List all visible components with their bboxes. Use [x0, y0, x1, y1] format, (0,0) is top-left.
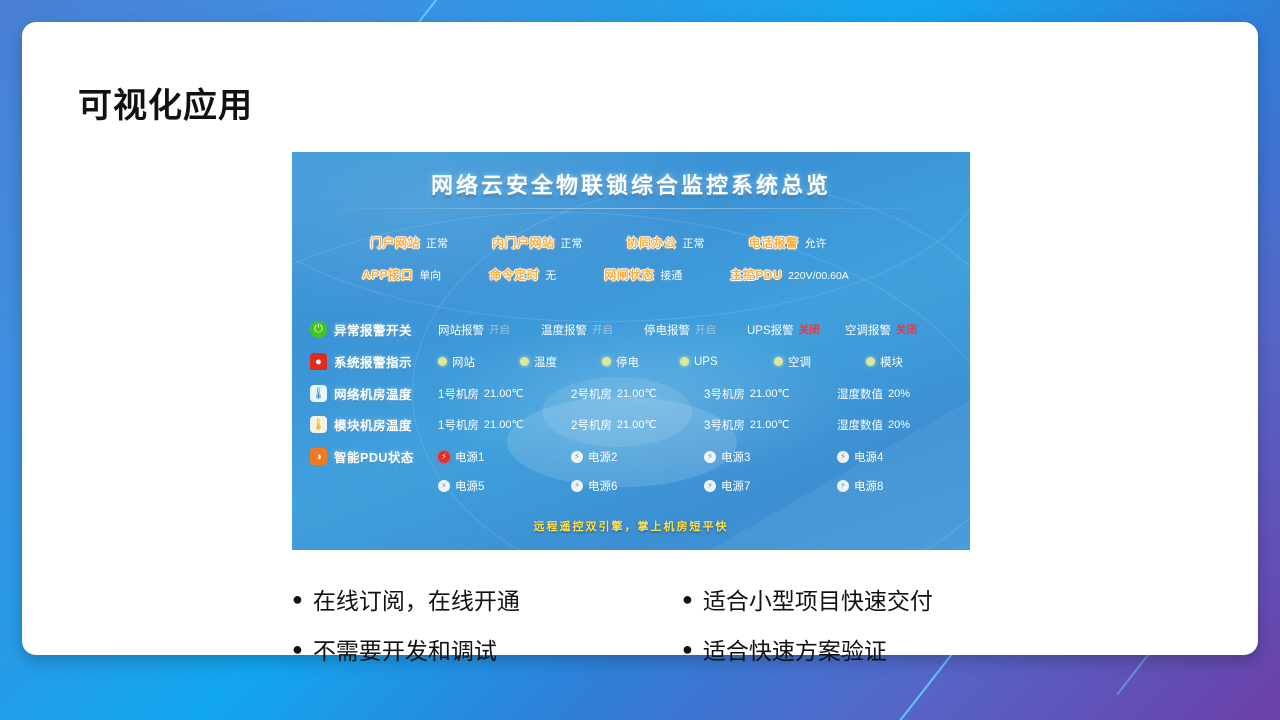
cell-key: 空调报警 — [845, 322, 891, 338]
cell-key: 1号机房 — [438, 386, 479, 402]
bullet-item: ● 在线订阅，在线开通 — [292, 582, 682, 616]
title-divider — [320, 208, 942, 209]
row-label: 异常报警开关 — [334, 320, 438, 339]
status-value: 正常 — [683, 235, 705, 251]
cell-key: 电源6 — [588, 478, 617, 494]
status-value: 正常 — [426, 235, 448, 251]
bullet-item: ● 适合小型项目快速交付 — [682, 582, 1032, 616]
status-value: 220V/00.60A — [788, 270, 849, 282]
bullet-dot-icon: ● — [682, 640, 693, 658]
status-command-timer: 命令定时 无 — [489, 266, 556, 283]
cell-key: 电源2 — [588, 449, 617, 465]
cell-value: 开启 — [592, 322, 613, 337]
cell-key: 模块 — [880, 354, 903, 370]
cell-key: 空调 — [788, 354, 811, 370]
cell-key: 1号机房 — [438, 417, 479, 433]
cell-key: 电源1 — [455, 449, 484, 465]
status-value: 允许 — [805, 235, 827, 251]
cell-key: 2号机房 — [571, 386, 612, 402]
bolt-icon: ⚡ — [438, 451, 450, 463]
status-value: 正常 — [561, 235, 583, 251]
bolt-icon: ⚡ — [571, 451, 583, 463]
cell-key: UPS报警 — [747, 322, 794, 338]
status-value: 单向 — [419, 267, 441, 283]
status-dot — [520, 357, 529, 366]
row-label: 模块机房温度 — [334, 415, 438, 434]
row-pdu-status: ◑ 智能PDU状态 ⚡ 电源1 ⚡ 电源2 ⚡ 电源3 ⚡ 电源4 — [310, 447, 960, 466]
status-label: APP接口 — [362, 266, 413, 283]
row-label: 系统报警指示 — [334, 352, 438, 371]
cell-key: 温度 — [534, 354, 557, 370]
cell-key: 温度报警 — [541, 322, 587, 338]
status-row-1: 门户网站 正常 内门户网站 正常 协同办公 正常 电话报警 允许 — [292, 234, 970, 251]
power-icon: ⏻ — [310, 321, 327, 338]
alarm-switch-poweroutage[interactable]: 停电报警 开启 — [644, 322, 747, 338]
bolt-icon: ⚡ — [704, 451, 716, 463]
alarm-switch-temperature[interactable]: 温度报警 开启 — [541, 322, 644, 338]
status-dot — [602, 357, 611, 366]
bullet-text: 适合快速方案验证 — [703, 632, 887, 666]
indicator-temperature: 温度 — [520, 354, 602, 370]
bullet-list: ● 在线订阅，在线开通 ● 适合小型项目快速交付 ● 不需要开发和调试 ● 适合… — [292, 582, 1032, 682]
bullet-item: ● 不需要开发和调试 — [292, 632, 682, 666]
monitoring-dashboard-panel: 网络云安全物联锁综合监控系统总览 门户网站 正常 内门户网站 正常 协同办公 正… — [292, 152, 970, 550]
bullet-dot-icon: ● — [292, 590, 303, 608]
cell-key: 3号机房 — [704, 386, 745, 402]
bullet-dot-icon: ● — [292, 640, 303, 658]
cell-key: 电源5 — [455, 478, 484, 494]
cell-value: 关闭 — [896, 322, 917, 337]
status-label: 内门户网站 — [492, 234, 555, 251]
cell-key: 电源7 — [721, 478, 750, 494]
status-dot — [774, 357, 783, 366]
thermometer-yellow-icon: 🌡 — [310, 416, 327, 433]
row-network-room-temperature: 🌡 网络机房温度 1号机房 21.00℃ 2号机房 21.00℃ 3号机房 21… — [310, 384, 960, 403]
cell-value: 开启 — [695, 322, 716, 337]
bullet-dot-icon: ● — [682, 590, 693, 608]
status-label: 网闸状态 — [604, 266, 654, 283]
row-pdu-status-second: ⚡ 电源5 ⚡ 电源6 ⚡ 电源7 ⚡ 电源8 — [310, 477, 960, 494]
module-temp-room-2: 2号机房 21.00℃ — [571, 417, 704, 433]
cell-key: 电源3 — [721, 449, 750, 465]
slide-card: 可视化应用 网络云安全物联锁综合监控系统总览 门户网站 正常 内门户网站 正常 … — [22, 22, 1258, 655]
bolt-icon: ⚡ — [837, 451, 849, 463]
row-alarm-switches: ⏻ 异常报警开关 网站报警 开启 温度报警 开启 停电报警 开启 UPS报警 关… — [310, 320, 960, 339]
bullet-item: ● 适合快速方案验证 — [682, 632, 1032, 666]
humidity-value: 湿度数值 20% — [837, 386, 910, 402]
status-value: 接通 — [660, 267, 682, 283]
status-value: 无 — [545, 267, 556, 283]
cell-value: 开启 — [489, 322, 510, 337]
status-label: 门户网站 — [370, 234, 420, 251]
cell-value: 21.00℃ — [750, 418, 790, 431]
cell-key: 2号机房 — [571, 417, 612, 433]
indicator-aircon: 空调 — [774, 354, 866, 370]
pdu-outlet-3[interactable]: ⚡ 电源3 — [704, 449, 837, 465]
bolt-icon: ⚡ — [837, 480, 849, 492]
status-label: 电话报警 — [749, 234, 799, 251]
row-module-room-temperature: 🌡 模块机房温度 1号机房 21.00℃ 2号机房 21.00℃ 3号机房 21… — [310, 415, 960, 434]
row-label: 网络机房温度 — [334, 384, 438, 403]
module-temp-room-3: 3号机房 21.00℃ — [704, 417, 837, 433]
bolt-icon: ⚡ — [704, 480, 716, 492]
bolt-icon: ⚡ — [571, 480, 583, 492]
pdu-outlet-8[interactable]: ⚡ 电源8 — [837, 478, 883, 494]
cell-key: 湿度数值 — [837, 386, 883, 402]
temp-room-3: 3号机房 21.00℃ — [704, 386, 837, 402]
status-dot — [438, 357, 447, 366]
alarm-switch-ups[interactable]: UPS报警 关闭 — [747, 322, 845, 338]
dashboard-title: 网络云安全物联锁综合监控系统总览 — [292, 168, 970, 200]
module-humidity-value: 湿度数值 20% — [837, 417, 910, 433]
temp-room-1: 1号机房 21.00℃ — [438, 386, 571, 402]
row-alarm-indicators: ● 系统报警指示 网站 温度 停电 UPS — [310, 352, 960, 371]
status-collaborative-office: 协同办公 正常 — [627, 234, 705, 251]
cell-value: 21.00℃ — [617, 418, 657, 431]
cell-value: 21.00℃ — [484, 418, 524, 431]
status-dot — [680, 357, 689, 366]
cell-key: 停电 — [616, 354, 639, 370]
pdu-outlet-7[interactable]: ⚡ 电源7 — [704, 478, 837, 494]
indicator-module: 模块 — [866, 354, 903, 370]
page-title: 可视化应用 — [78, 78, 253, 127]
pdu-outlet-2[interactable]: ⚡ 电源2 — [571, 449, 704, 465]
pdu-outlet-6[interactable]: ⚡ 电源6 — [571, 478, 704, 494]
status-dot — [866, 357, 875, 366]
temp-room-2: 2号机房 21.00℃ — [571, 386, 704, 402]
pdu-outlet-5[interactable]: ⚡ 电源5 — [438, 478, 571, 494]
alarm-switch-aircon[interactable]: 空调报警 关闭 — [845, 322, 917, 338]
status-main-pdu: 主控PDU 220V/00.60A — [730, 266, 849, 283]
pdu-outlet-1[interactable]: ⚡ 电源1 — [438, 449, 571, 465]
module-temp-room-1: 1号机房 21.00℃ — [438, 417, 571, 433]
cell-value: 关闭 — [799, 322, 820, 337]
status-phone-alarm: 电话报警 允许 — [749, 234, 827, 251]
row-label: 智能PDU状态 — [334, 447, 438, 466]
cell-value: 21.00℃ — [617, 387, 657, 400]
dashboard-footer-slogan: 远程遥控双引擎，掌上机房短平快 — [292, 518, 970, 534]
siren-icon: ● — [310, 353, 327, 370]
thermometer-blue-icon: 🌡 — [310, 385, 327, 402]
cell-key: 3号机房 — [704, 417, 745, 433]
cell-key: 电源4 — [854, 449, 883, 465]
cell-key: 停电报警 — [644, 322, 690, 338]
indicator-ups: UPS — [680, 354, 774, 370]
bolt-icon: ⚡ — [438, 480, 450, 492]
alarm-switch-website[interactable]: 网站报警 开启 — [438, 322, 541, 338]
bullet-row-1: ● 在线订阅，在线开通 ● 适合小型项目快速交付 — [292, 582, 1032, 616]
indicator-website: 网站 — [438, 354, 520, 370]
gauge-icon: ◑ — [310, 448, 327, 465]
status-row-2: APP接口 单向 命令定时 无 网闸状态 接通 主控PDU 220V/00.60… — [292, 266, 970, 283]
status-label: 主控PDU — [730, 266, 782, 283]
cell-key: 网站 — [452, 354, 475, 370]
status-app-interface: APP接口 单向 — [362, 266, 441, 283]
cell-value: 20% — [888, 419, 910, 431]
status-label: 协同办公 — [627, 234, 677, 251]
cell-key: 湿度数值 — [837, 417, 883, 433]
bullet-row-2: ● 不需要开发和调试 ● 适合快速方案验证 — [292, 632, 1032, 666]
cell-value: 21.00℃ — [484, 387, 524, 400]
cell-value: 21.00℃ — [750, 387, 790, 400]
cell-key: 网站报警 — [438, 322, 484, 338]
bullet-text: 适合小型项目快速交付 — [703, 582, 933, 616]
status-gatekeeper: 网闸状态 接通 — [604, 266, 682, 283]
status-portal-website: 门户网站 正常 — [370, 234, 448, 251]
bullet-text: 不需要开发和调试 — [313, 632, 497, 666]
bullet-text: 在线订阅，在线开通 — [313, 582, 520, 616]
indicator-poweroutage: 停电 — [602, 354, 680, 370]
pdu-outlet-4[interactable]: ⚡ 电源4 — [837, 449, 883, 465]
status-label: 命令定时 — [489, 266, 539, 283]
cell-value: 20% — [888, 388, 910, 400]
status-internal-portal: 内门户网站 正常 — [492, 234, 583, 251]
cell-key: 电源8 — [854, 478, 883, 494]
cell-key: UPS — [694, 356, 718, 368]
